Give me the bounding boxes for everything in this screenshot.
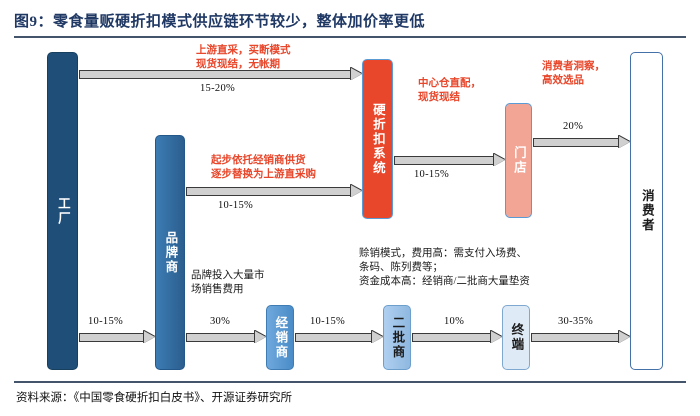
- annotation-direct-purchase: 上游直采，买断模式 现货现结，无帐期: [196, 44, 291, 72]
- annotation-central-warehouse-line2: 现货现结: [418, 91, 481, 105]
- node-consumer[interactable]: 消费者: [630, 52, 663, 370]
- annotation-direct-purchase-line2: 现货现结，无帐期: [196, 58, 291, 72]
- source-divider: [14, 381, 686, 383]
- annotation-dealer-supply: 起步依托经销商供货 逐步替换为上游直采购: [211, 154, 316, 182]
- figure-source: 资料来源：《中国零食硬折扣白皮书》、开源证券研究所: [16, 389, 292, 405]
- annotation-central-warehouse-line1: 中心仓直配，: [418, 77, 481, 91]
- node-terminal[interactable]: 终端: [502, 305, 530, 370]
- node-store[interactable]: 门店: [505, 103, 532, 218]
- annotation-dealer-supply-line2: 逐步替换为上游直采购: [211, 168, 316, 182]
- label-factory-to-hard-pct: 15-20%: [200, 83, 235, 94]
- annotation-traditional-cost-line2: 条码、陈列费等；: [359, 261, 530, 275]
- label-store-to-consumer-pct: 20%: [563, 121, 583, 132]
- figure-container: 图9：零食量贩硬折扣模式供应链环节较少，整体加价率更低 工厂 品牌商 经销商 二…: [0, 0, 700, 416]
- label-brand-to-dealer-pct: 30%: [210, 316, 230, 327]
- annotation-consumer-insight: 消费者洞察， 高效选品: [542, 60, 605, 88]
- label-brand-to-hard-pct: 10-15%: [218, 200, 253, 211]
- label-factory-to-brand-pct: 10-15%: [88, 316, 123, 327]
- annotation-direct-purchase-line1: 上游直采，买断模式: [196, 44, 291, 58]
- arrow-terminal-to-consumer: [531, 331, 630, 344]
- arrow-hard-to-store: [394, 154, 505, 167]
- node-brand[interactable]: 品牌商: [155, 135, 185, 370]
- annotation-consumer-insight-line2: 高效选品: [542, 74, 605, 88]
- annotation-brand-cost: 品牌投入大量市 场销售费用: [191, 269, 265, 297]
- figure-title: 图9：零食量贩硬折扣模式供应链环节较少，整体加价率更低: [14, 10, 425, 31]
- annotation-traditional-cost-line3: 资金成本高：经销商/二批商大量垫资: [359, 275, 530, 289]
- annotation-brand-cost-line1: 品牌投入大量市: [191, 269, 265, 283]
- node-wholesaler[interactable]: 二批商: [383, 305, 411, 370]
- arrow-brand-to-hard: [186, 185, 362, 198]
- node-factory[interactable]: 工厂: [47, 52, 78, 370]
- arrow-store-to-consumer: [533, 136, 630, 149]
- annotation-central-warehouse: 中心仓直配， 现货现结: [418, 77, 481, 105]
- annotation-traditional-cost: 赊销模式，费用高：需支付入场费、 条码、陈列费等； 资金成本高：经销商/二批商大…: [359, 247, 530, 290]
- label-hard-to-store-pct: 10-15%: [414, 169, 449, 180]
- arrow-wholesaler-to-terminal: [412, 331, 502, 344]
- arrow-factory-to-brand: [79, 331, 155, 344]
- annotation-consumer-insight-line1: 消费者洞察，: [542, 60, 605, 74]
- label-terminal-to-consumer-pct: 30-35%: [558, 316, 593, 327]
- label-wholesaler-to-terminal-pct: 10%: [444, 316, 464, 327]
- diagram-canvas: 工厂 品牌商 经销商 二批商 终端 硬折扣系统 门店 消费者: [0, 42, 700, 380]
- arrow-dealer-to-wholesaler: [295, 331, 383, 344]
- node-dealer[interactable]: 经销商: [266, 305, 294, 370]
- annotation-traditional-cost-line1: 赊销模式，费用高：需支付入场费、: [359, 247, 530, 261]
- arrow-brand-to-dealer: [186, 331, 266, 344]
- label-dealer-to-wholesaler-pct: 10-15%: [310, 316, 345, 327]
- title-divider: [14, 36, 686, 38]
- annotation-dealer-supply-line1: 起步依托经销商供货: [211, 154, 316, 168]
- node-hard-discount-system[interactable]: 硬折扣系统: [362, 59, 393, 219]
- annotation-brand-cost-line2: 场销售费用: [191, 283, 265, 297]
